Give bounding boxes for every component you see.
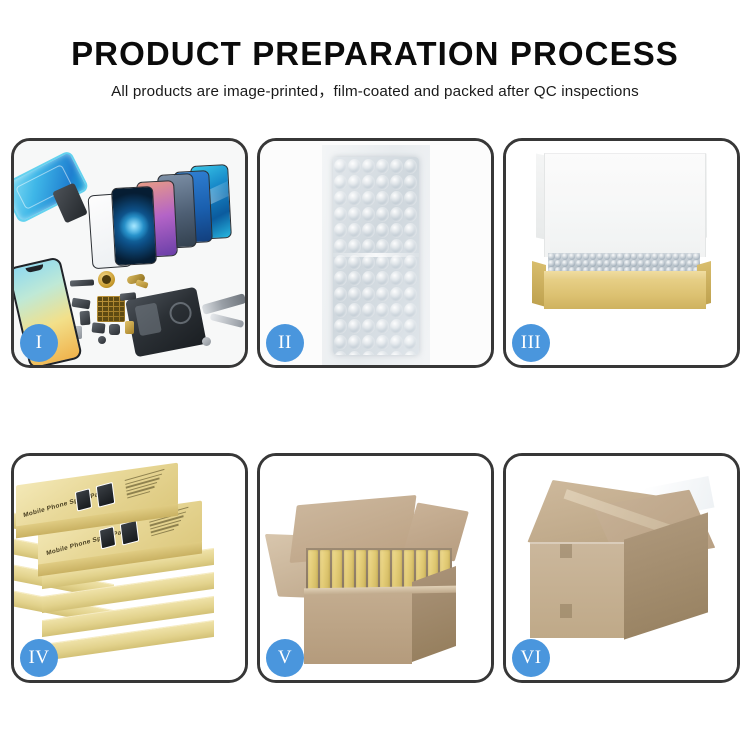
earpiece-part <box>109 324 120 335</box>
step-badge-6: VI <box>512 639 550 677</box>
panel-step-4-image: Mobile Phone Spare Parts Mobile Phone Sp… <box>14 456 245 680</box>
box-label-thumbnail-a <box>99 526 116 549</box>
ribbon-cable-part <box>70 279 94 286</box>
washer-part <box>202 337 211 346</box>
carton-front-face <box>530 542 624 638</box>
speaker-coil-part <box>98 271 115 288</box>
box-label-thumbnail-b <box>120 520 140 546</box>
page-subtitle: All products are image-printed，film-coat… <box>0 82 750 102</box>
button-flex-part <box>92 322 106 333</box>
box-label-thumbnail-a <box>75 488 92 511</box>
header: PRODUCT PREPARATION PROCESS All products… <box>0 34 750 102</box>
panel-step-6: VI <box>503 453 740 683</box>
carton-tab-upper <box>560 544 572 558</box>
step-badge-2: II <box>266 324 304 362</box>
carton-side-right <box>412 566 456 662</box>
page-title: PRODUCT PREPARATION PROCESS <box>0 34 750 74</box>
step-badge-3: III <box>512 324 550 362</box>
panel-step-1: I <box>11 138 248 368</box>
step-badge-1: I <box>20 324 58 362</box>
step-badge-4: IV <box>20 639 58 677</box>
panel-step-6-image: VI <box>506 456 737 680</box>
carton-front-panel <box>304 592 412 664</box>
panel-step-5: V <box>257 453 494 683</box>
carton-seam <box>530 542 624 544</box>
box-front-panel <box>544 279 706 309</box>
panel-step-3: III <box>503 138 740 368</box>
carton-tab-lower <box>560 604 572 618</box>
retail-box-printed-top: Mobile Phone Spare Parts <box>16 463 178 528</box>
box-label-thumbnail-b <box>96 482 116 508</box>
step-badge-5: V <box>266 639 304 677</box>
panel-step-4: Mobile Phone Spare Parts Mobile Phone Sp… <box>11 453 248 683</box>
gold-chip-part <box>125 321 134 334</box>
panel-step-2: II <box>257 138 494 368</box>
panel-step-5-image: V <box>260 456 491 680</box>
product-preparation-infographic: PRODUCT PREPARATION PROCESS All products… <box>0 0 750 750</box>
phone-plasma-display <box>111 186 157 266</box>
sim-tray-part <box>80 311 91 326</box>
panel-step-1-image: I <box>14 141 245 365</box>
wrap-seam <box>333 253 419 257</box>
screw-part <box>98 336 106 344</box>
process-step-grid: I II <box>11 138 740 683</box>
panel-step-3-image: III <box>506 141 737 365</box>
panel-step-2-image: II <box>260 141 491 365</box>
